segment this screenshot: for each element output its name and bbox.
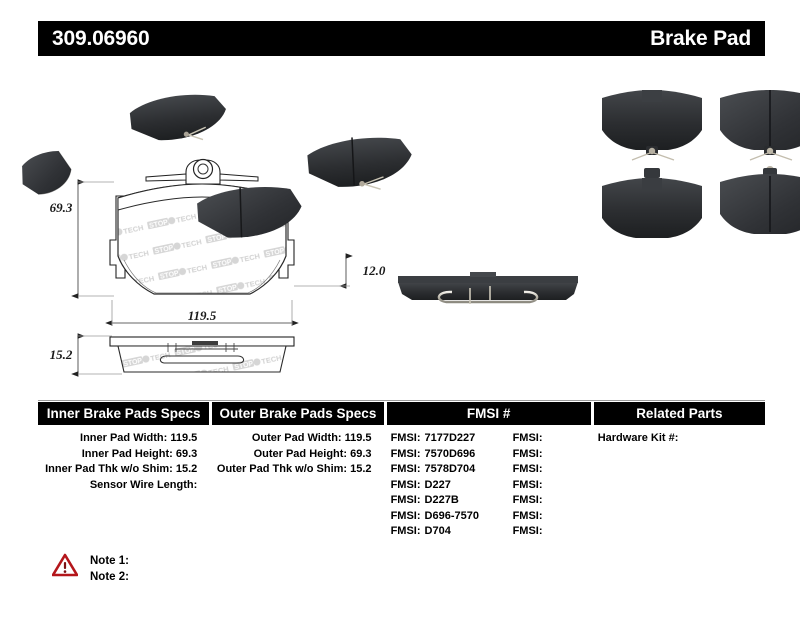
notes-section: Note 1: Note 2: [52,553,129,585]
pad-side-view [110,337,294,372]
fmsi-row: FMSI: [513,462,547,478]
part-number: 309.06960 [52,27,149,51]
fmsi-row: FMSI: [513,524,547,540]
fmsi-value: 7578D704 [425,463,476,475]
fmsi-label: FMSI: [391,525,421,537]
warning-triangle-icon [52,553,78,577]
inner-specs-cell: Inner Pad Width: 119.5 Inner Pad Height:… [38,431,209,540]
dimension-width: 119.5 [188,308,217,323]
brake-pad-technical-drawing: TECH STOP [0,60,800,390]
fmsi-label: FMSI: [513,510,543,522]
product-photo-grid-set [602,90,800,238]
fmsi-row: FMSI: [513,478,547,494]
fmsi-row: FMSI:D227B [391,493,513,509]
fmsi-label: FMSI: [391,448,421,460]
fmsi-cell: FMSI:7177D227 FMSI:7570D696 FMSI:7578D70… [387,431,591,540]
fmsi-value: D227B [425,494,459,506]
outer-spec-item: Outer Pad Height: 69.3 [212,447,383,463]
specification-table: Inner Brake Pads Specs Outer Brake Pads … [38,402,765,540]
fmsi-row: FMSI:7570D696 [391,447,513,463]
fmsi-row: FMSI:D704 [391,524,513,540]
fmsi-label: FMSI: [391,463,421,475]
fmsi-secondary-column: FMSI: FMSI: FMSI: FMSI: FMSI: FMSI: FMSI… [513,431,547,540]
table-header-row: Inner Brake Pads Specs Outer Brake Pads … [38,402,765,425]
note-item: Note 1: [90,553,129,569]
fmsi-label: FMSI: [391,510,421,522]
fmsi-row: FMSI: [513,431,547,447]
inner-spec-item: Inner Pad Width: 119.5 [38,431,209,447]
fmsi-label: FMSI: [513,525,543,537]
fmsi-label: FMSI: [391,432,421,444]
dimension-height: 69.3 [50,200,73,215]
product-type: Brake Pad [650,27,751,51]
fmsi-label: FMSI: [513,494,543,506]
table-top-rule [38,400,765,401]
fmsi-label: FMSI: [513,479,543,491]
fmsi-value: 7177D227 [425,432,476,444]
dimension-pad-thickness: 12.0 [363,263,386,278]
note-item: Note 2: [90,569,129,585]
related-parts-cell: Hardware Kit #: [594,431,765,540]
fmsi-value: D704 [425,525,451,537]
column-header-related-parts: Related Parts [594,402,765,425]
notes-list: Note 1: Note 2: [90,553,129,585]
inner-spec-item: Sensor Wire Length: [38,478,209,494]
product-photo-edge-view [398,272,578,304]
fmsi-label: FMSI: [513,448,543,460]
title-bar: 309.06960 Brake Pad [38,21,765,56]
fmsi-label: FMSI: [391,479,421,491]
fmsi-value: D227 [425,479,451,491]
column-header-fmsi: FMSI # [387,402,591,425]
outer-specs-cell: Outer Pad Width: 119.5 Outer Pad Height:… [212,431,383,540]
fmsi-row: FMSI: [513,509,547,525]
fmsi-label: FMSI: [391,494,421,506]
outer-spec-item: Outer Pad Width: 119.5 [212,431,383,447]
outer-spec-item: Outer Pad Thk w/o Shim: 15.2 [212,462,383,478]
inner-spec-item: Inner Pad Height: 69.3 [38,447,209,463]
fmsi-label: FMSI: [513,432,543,444]
fmsi-value: 7570D696 [425,448,476,460]
fmsi-label: FMSI: [513,463,543,475]
fmsi-row: FMSI:7578D704 [391,462,513,478]
column-header-inner-specs: Inner Brake Pads Specs [38,402,209,425]
illustration-area: TECH STOP [0,60,800,390]
fmsi-row: FMSI:D227 [391,478,513,494]
dimension-total-thickness: 15.2 [50,347,73,362]
hardware-kit-label: Hardware Kit #: [594,431,765,447]
fmsi-row: FMSI:D696-7570 [391,509,513,525]
inner-spec-item: Inner Pad Thk w/o Shim: 15.2 [38,462,209,478]
fmsi-primary-column: FMSI:7177D227 FMSI:7570D696 FMSI:7578D70… [391,431,513,540]
fmsi-row: FMSI:7177D227 [391,431,513,447]
fmsi-row: FMSI: [513,493,547,509]
column-header-outer-specs: Outer Brake Pads Specs [212,402,383,425]
table-body-row: Inner Pad Width: 119.5 Inner Pad Height:… [38,431,765,540]
fmsi-value: D696-7570 [425,510,479,522]
fmsi-row: FMSI: [513,447,547,463]
